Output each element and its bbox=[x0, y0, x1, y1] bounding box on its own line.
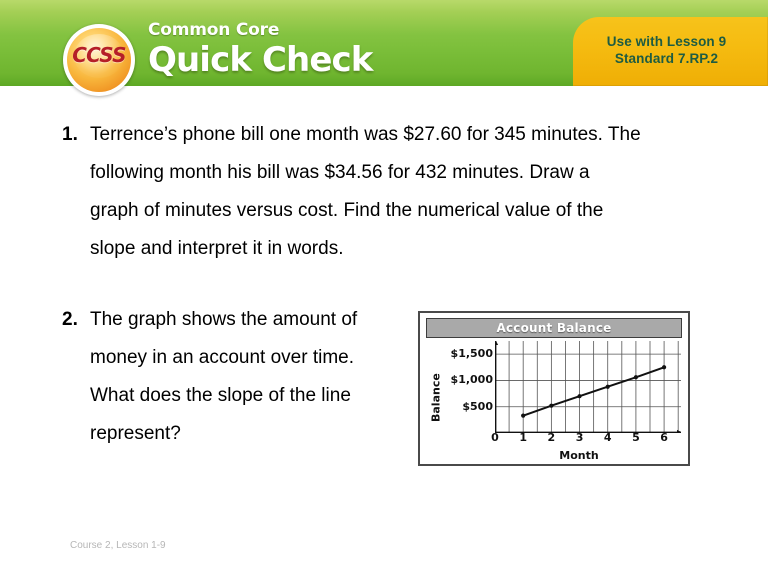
footer-course-label: Course 2, Lesson 1-9 bbox=[70, 540, 166, 551]
ccss-logo-text: CCSS bbox=[63, 43, 135, 67]
account-balance-chart: Account Balance Balance $500$1,000$1,500… bbox=[418, 311, 690, 466]
worksheet-content: 1. Terrence’s phone bill one month was $… bbox=[0, 86, 768, 576]
question-2-number: 2. bbox=[62, 301, 78, 339]
question-1: 1. Terrence’s phone bill one month was $… bbox=[62, 116, 752, 268]
header-title-quick-check: Quick Check bbox=[148, 41, 372, 80]
chart-y-tick: $1,500 bbox=[451, 347, 493, 360]
badge-lesson-line: Use with Lesson 9 bbox=[607, 34, 726, 49]
question-1-number: 1. bbox=[62, 116, 78, 154]
chart-x-axis-label: Month bbox=[480, 449, 678, 462]
question-2: 2. The graph shows the amount of money i… bbox=[62, 301, 402, 453]
ccss-logo: CCSS bbox=[63, 24, 135, 96]
header-title-common-core: Common Core bbox=[148, 21, 372, 40]
chart-title: Account Balance bbox=[496, 321, 611, 335]
question-1-text: Terrence’s phone bill one month was $27.… bbox=[90, 116, 752, 268]
chart-x-tick-labels: 0123456 bbox=[420, 431, 688, 447]
chart-y-tick: $1,000 bbox=[451, 373, 493, 386]
chart-plot-svg bbox=[495, 341, 681, 433]
chart-plot-wrapper: Balance $500$1,000$1,500 0123456 Month bbox=[420, 339, 688, 466]
header-title-block: Common Core Quick Check bbox=[148, 21, 372, 80]
chart-title-bar: Account Balance bbox=[426, 318, 682, 338]
standard-badge: Use with Lesson 9 Standard 7.RP.2 bbox=[573, 17, 768, 86]
badge-standard-line: Standard 7.RP.2 bbox=[573, 50, 760, 67]
chart-y-tick: $500 bbox=[462, 400, 493, 413]
standard-badge-text: Use with Lesson 9 Standard 7.RP.2 bbox=[573, 33, 760, 67]
page-header: Use with Lesson 9 Standard 7.RP.2 CCSS C… bbox=[0, 0, 768, 86]
question-2-text: The graph shows the amount of money in a… bbox=[90, 301, 402, 453]
